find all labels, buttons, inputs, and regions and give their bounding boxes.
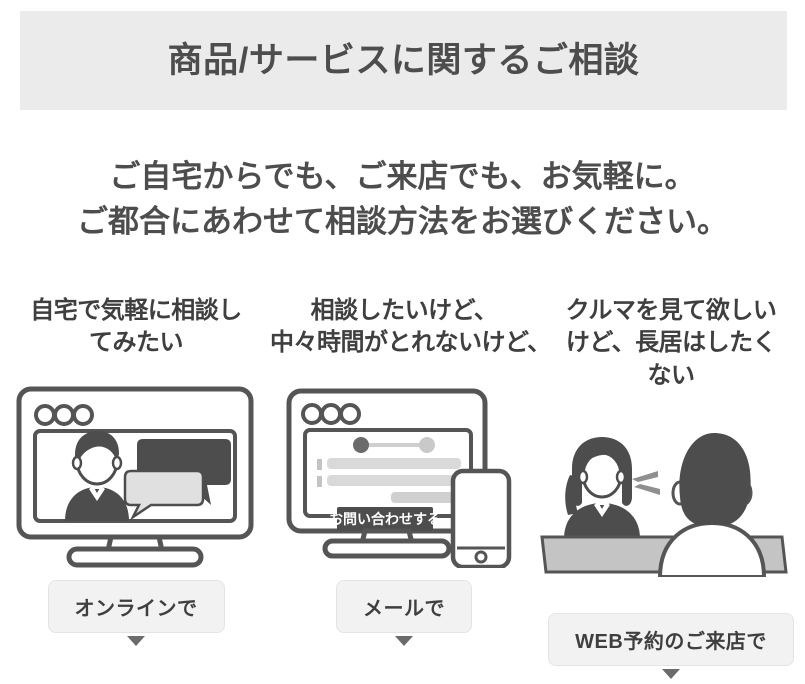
chevron-down-icon — [662, 669, 680, 679]
consultation-options: 自宅で気軽に相談し てみたい — [0, 295, 805, 684]
contact-form-illustration: お問い合わせする — [270, 383, 538, 568]
pill-email[interactable]: メールで — [336, 580, 472, 633]
option-online-caption: 自宅で気軽に相談し てみたい — [2, 295, 270, 360]
caption-line: 自宅で気軽に相談し — [2, 295, 270, 327]
speech-lines-icon — [632, 471, 660, 495]
caption-line: けど、長居はしたく — [537, 327, 805, 359]
customer-person-icon — [660, 433, 764, 577]
form-row-marker — [317, 459, 322, 470]
slider-handle-left[interactable] — [353, 437, 369, 453]
monitor-screen — [305, 430, 471, 516]
subtitle-line-1: ご自宅からでも、ご来店でも、お気軽に。 — [0, 155, 805, 200]
header-banner: 商品/サービスに関するご相談 — [20, 11, 787, 110]
option-online-pill-wrap: オンラインで — [2, 580, 270, 646]
contact-submit-button[interactable]: お問い合わせする — [329, 507, 441, 531]
monitor-video-chat-illustration — [2, 383, 270, 568]
chevron-down-icon — [127, 636, 145, 646]
caption-line: 相談したいけど、 — [270, 295, 538, 327]
form-input-field-3[interactable] — [391, 492, 461, 503]
pill-online[interactable]: オンラインで — [48, 580, 225, 633]
page-title: 商品/サービスに関するご相談 — [168, 43, 640, 78]
form-input-field-1[interactable] — [327, 458, 461, 469]
form-input-field-2[interactable] — [327, 475, 461, 486]
smartphone-icon — [453, 471, 509, 567]
option-email-caption: 相談したいけど、 中々時間がとれないけど、 — [270, 295, 538, 360]
option-store-visit-caption: クルマを見て欲しい けど、長居はしたく ない — [537, 295, 805, 392]
option-email: 相談したいけど、 中々時間がとれないけど、 — [270, 295, 538, 684]
option-store-visit-pill-wrap: WEB予約のご来店で — [537, 613, 805, 679]
subtitle-block: ご自宅からでも、ご来店でも、お気軽に。 ご都合にあわせて相談方法をお選びください… — [0, 155, 805, 245]
subtitle-line-2: ご都合にあわせて相談方法をお選びください。 — [0, 200, 805, 245]
caption-line: クルマを見て欲しい — [537, 295, 805, 327]
staff-person-icon — [564, 437, 640, 539]
caption-line: ない — [537, 360, 805, 392]
chevron-down-icon — [395, 636, 413, 646]
option-email-pill-wrap: メールで — [270, 580, 538, 646]
monitor-base — [325, 541, 449, 556]
form-row-marker — [317, 476, 322, 487]
caption-line: 中々時間がとれないけど、 — [270, 327, 538, 359]
counter-consultation-illustration — [537, 417, 805, 577]
option-online: 自宅で気軽に相談し てみたい — [2, 295, 270, 684]
monitor-base — [69, 549, 201, 565]
slider-handle-right[interactable] — [419, 437, 435, 453]
option-store-visit: クルマを見て欲しい けど、長居はしたく ない — [537, 295, 805, 684]
contact-submit-label: お問い合わせする — [329, 511, 441, 527]
pill-store-visit[interactable]: WEB予約のご来店で — [548, 613, 794, 666]
caption-line: てみたい — [2, 327, 270, 359]
